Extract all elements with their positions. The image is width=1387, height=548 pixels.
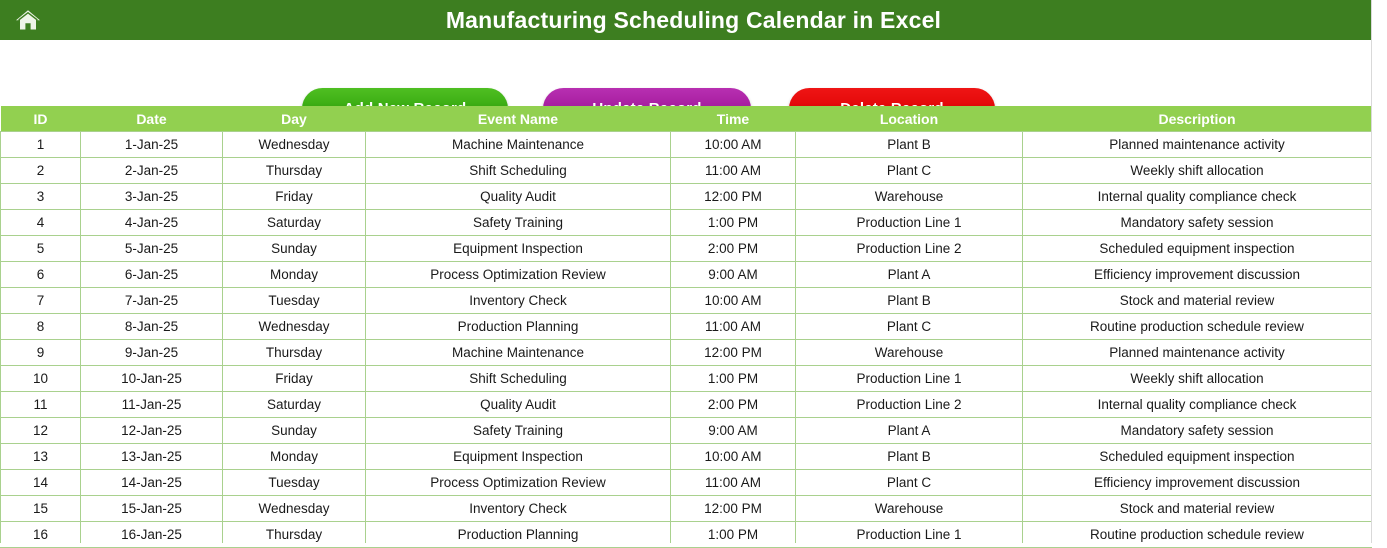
cell-time[interactable]: 12:00 PM [671, 496, 796, 522]
cell-id[interactable]: 7 [1, 288, 81, 314]
cell-time[interactable]: 2:00 PM [671, 392, 796, 418]
cell-day[interactable]: Wednesday [223, 132, 366, 158]
cell-event-name[interactable]: Equipment Inspection [366, 236, 671, 262]
cell-date[interactable]: 11-Jan-25 [81, 392, 223, 418]
cell-time[interactable]: 12:00 PM [671, 184, 796, 210]
table-row[interactable]: 99-Jan-25ThursdayMachine Maintenance12:0… [1, 340, 1372, 366]
cell-id[interactable]: 10 [1, 366, 81, 392]
cell-id[interactable]: 8 [1, 314, 81, 340]
cell-id[interactable]: 11 [1, 392, 81, 418]
cell-event-name[interactable]: Quality Audit [366, 392, 671, 418]
cell-date[interactable]: 13-Jan-25 [81, 444, 223, 470]
cell-day[interactable]: Wednesday [223, 314, 366, 340]
cell-time[interactable]: 1:00 PM [671, 366, 796, 392]
cell-time[interactable]: 12:00 PM [671, 340, 796, 366]
home-button[interactable] [0, 0, 56, 40]
cell-description[interactable]: Weekly shift allocation [1023, 158, 1372, 184]
table-row[interactable]: 1515-Jan-25WednesdayInventory Check12:00… [1, 496, 1372, 522]
cell-id[interactable]: 2 [1, 158, 81, 184]
cell-day[interactable]: Friday [223, 184, 366, 210]
cell-id[interactable]: 9 [1, 340, 81, 366]
cell-id[interactable]: 3 [1, 184, 81, 210]
cell-location[interactable]: Plant C [796, 314, 1023, 340]
cell-event-name[interactable]: Inventory Check [366, 496, 671, 522]
cell-event-name[interactable]: Inventory Check [366, 288, 671, 314]
cell-id[interactable]: 4 [1, 210, 81, 236]
column-header-date[interactable]: Date [81, 106, 223, 132]
table-row[interactable]: 1111-Jan-25SaturdayQuality Audit2:00 PMP… [1, 392, 1372, 418]
cell-date[interactable]: 10-Jan-25 [81, 366, 223, 392]
records-table-container: ID Date Day Event Name Time Location Des… [0, 106, 1371, 548]
table-row[interactable]: 1212-Jan-25SundaySafety Training9:00 AMP… [1, 418, 1372, 444]
cell-location[interactable]: Plant C [796, 158, 1023, 184]
table-row[interactable]: 55-Jan-25SundayEquipment Inspection2:00 … [1, 236, 1372, 262]
cell-date[interactable]: 2-Jan-25 [81, 158, 223, 184]
cell-description[interactable]: Internal quality compliance check [1023, 184, 1372, 210]
cell-time[interactable]: 11:00 AM [671, 314, 796, 340]
cell-location[interactable]: Warehouse [796, 340, 1023, 366]
table-row[interactable]: 88-Jan-25WednesdayProduction Planning11:… [1, 314, 1372, 340]
cell-time[interactable]: 9:00 AM [671, 418, 796, 444]
cell-date[interactable]: 14-Jan-25 [81, 470, 223, 496]
cell-event-name[interactable]: Safety Training [366, 210, 671, 236]
app-title-bar: Manufacturing Scheduling Calendar in Exc… [0, 0, 1387, 40]
cell-day[interactable]: Saturday [223, 392, 366, 418]
records-table: ID Date Day Event Name Time Location Des… [0, 106, 1372, 548]
cell-id[interactable]: 15 [1, 496, 81, 522]
cell-event-name[interactable]: Machine Maintenance [366, 340, 671, 366]
cell-date[interactable]: 4-Jan-25 [81, 210, 223, 236]
table-row[interactable]: 77-Jan-25TuesdayInventory Check10:00 AMP… [1, 288, 1372, 314]
table-row[interactable]: 33-Jan-25FridayQuality Audit12:00 PMWare… [1, 184, 1372, 210]
cell-description[interactable]: Planned maintenance activity [1023, 132, 1372, 158]
cell-location[interactable]: Production Line 1 [796, 366, 1023, 392]
page-title: Manufacturing Scheduling Calendar in Exc… [0, 0, 1387, 40]
cell-time[interactable]: 2:00 PM [671, 236, 796, 262]
table-row[interactable]: 22-Jan-25ThursdayShift Scheduling11:00 A… [1, 158, 1372, 184]
column-header-time[interactable]: Time [671, 106, 796, 132]
cell-location[interactable]: Plant A [796, 418, 1023, 444]
cell-day[interactable]: Saturday [223, 210, 366, 236]
cell-event-name[interactable]: Safety Training [366, 418, 671, 444]
table-row[interactable]: 44-Jan-25SaturdaySafety Training1:00 PMP… [1, 210, 1372, 236]
cell-day[interactable]: Tuesday [223, 470, 366, 496]
cell-event-name[interactable]: Process Optimization Review [366, 470, 671, 496]
cell-location[interactable]: Production Line 2 [796, 236, 1023, 262]
cell-day[interactable]: Monday [223, 444, 366, 470]
cell-time[interactable]: 11:00 AM [671, 470, 796, 496]
cell-time[interactable]: 1:00 PM [671, 210, 796, 236]
table-row[interactable]: 1414-Jan-25TuesdayProcess Optimization R… [1, 470, 1372, 496]
cell-date[interactable]: 15-Jan-25 [81, 496, 223, 522]
home-icon [15, 8, 41, 32]
cell-date[interactable]: 5-Jan-25 [81, 236, 223, 262]
cell-day[interactable]: Wednesday [223, 496, 366, 522]
cell-day[interactable]: Sunday [223, 418, 366, 444]
cell-description[interactable]: Efficiency improvement discussion [1023, 470, 1372, 496]
cell-time[interactable]: 9:00 AM [671, 262, 796, 288]
cell-event-name[interactable]: Quality Audit [366, 184, 671, 210]
cell-date[interactable]: 6-Jan-25 [81, 262, 223, 288]
cell-location[interactable]: Plant B [796, 288, 1023, 314]
cell-id[interactable]: 12 [1, 418, 81, 444]
cell-event-name[interactable]: Shift Scheduling [366, 158, 671, 184]
cell-day[interactable]: Thursday [223, 340, 366, 366]
column-header-location[interactable]: Location [796, 106, 1023, 132]
cell-event-name[interactable]: Machine Maintenance [366, 132, 671, 158]
cell-date[interactable]: 7-Jan-25 [81, 288, 223, 314]
cell-location[interactable]: Production Line 1 [796, 210, 1023, 236]
cell-description[interactable]: Efficiency improvement discussion [1023, 262, 1372, 288]
cell-id[interactable]: 14 [1, 470, 81, 496]
cell-date[interactable]: 8-Jan-25 [81, 314, 223, 340]
cell-location[interactable]: Plant C [796, 470, 1023, 496]
cell-date[interactable]: 9-Jan-25 [81, 340, 223, 366]
sheet-bottom-edge [0, 543, 1387, 547]
cell-time[interactable]: 10:00 AM [671, 288, 796, 314]
cell-location[interactable]: Warehouse [796, 496, 1023, 522]
cell-day[interactable]: Thursday [223, 158, 366, 184]
cell-location[interactable]: Plant B [796, 444, 1023, 470]
cell-description[interactable]: Weekly shift allocation [1023, 366, 1372, 392]
cell-description[interactable]: Stock and material review [1023, 496, 1372, 522]
cell-description[interactable]: Planned maintenance activity [1023, 340, 1372, 366]
cell-event-name[interactable]: Shift Scheduling [366, 366, 671, 392]
cell-day[interactable]: Tuesday [223, 288, 366, 314]
cell-location[interactable]: Plant B [796, 132, 1023, 158]
cell-event-name[interactable]: Production Planning [366, 314, 671, 340]
cell-day[interactable]: Sunday [223, 236, 366, 262]
cell-day[interactable]: Friday [223, 366, 366, 392]
cell-id[interactable]: 5 [1, 236, 81, 262]
cell-date[interactable]: 1-Jan-25 [81, 132, 223, 158]
cell-description[interactable]: Routine production schedule review [1023, 314, 1372, 340]
table-header: ID Date Day Event Name Time Location Des… [1, 106, 1372, 132]
cell-description[interactable]: Mandatory safety session [1023, 418, 1372, 444]
cell-event-name[interactable]: Process Optimization Review [366, 262, 671, 288]
cell-date[interactable]: 12-Jan-25 [81, 418, 223, 444]
cell-location[interactable]: Warehouse [796, 184, 1023, 210]
column-header-description[interactable]: Description [1023, 106, 1372, 132]
action-toolbar: Add New Record Update Record Delete Reco… [0, 40, 1387, 106]
cell-description[interactable]: Scheduled equipment inspection [1023, 444, 1372, 470]
cell-date[interactable]: 3-Jan-25 [81, 184, 223, 210]
cell-description[interactable]: Stock and material review [1023, 288, 1372, 314]
cell-location[interactable]: Production Line 2 [796, 392, 1023, 418]
cell-time[interactable]: 10:00 AM [671, 444, 796, 470]
cell-id[interactable]: 13 [1, 444, 81, 470]
table-body: 11-Jan-25WednesdayMachine Maintenance10:… [1, 132, 1372, 548]
cell-event-name[interactable]: Equipment Inspection [366, 444, 671, 470]
cell-time[interactable]: 11:00 AM [671, 158, 796, 184]
cell-description[interactable]: Mandatory safety session [1023, 210, 1372, 236]
cell-description[interactable]: Scheduled equipment inspection [1023, 236, 1372, 262]
cell-id[interactable]: 1 [1, 132, 81, 158]
cell-id[interactable]: 6 [1, 262, 81, 288]
table-row[interactable]: 66-Jan-25MondayProcess Optimization Revi… [1, 262, 1372, 288]
cell-time[interactable]: 10:00 AM [671, 132, 796, 158]
cell-day[interactable]: Monday [223, 262, 366, 288]
table-row[interactable]: 11-Jan-25WednesdayMachine Maintenance10:… [1, 132, 1372, 158]
cell-description[interactable]: Internal quality compliance check [1023, 392, 1372, 418]
table-header-row: ID Date Day Event Name Time Location Des… [1, 106, 1372, 132]
column-header-event-name[interactable]: Event Name [366, 106, 671, 132]
sheet-right-edge [1371, 0, 1387, 547]
column-header-id[interactable]: ID [1, 106, 81, 132]
table-row[interactable]: 1313-Jan-25MondayEquipment Inspection10:… [1, 444, 1372, 470]
column-header-day[interactable]: Day [223, 106, 366, 132]
cell-location[interactable]: Plant A [796, 262, 1023, 288]
table-row[interactable]: 1010-Jan-25FridayShift Scheduling1:00 PM… [1, 366, 1372, 392]
